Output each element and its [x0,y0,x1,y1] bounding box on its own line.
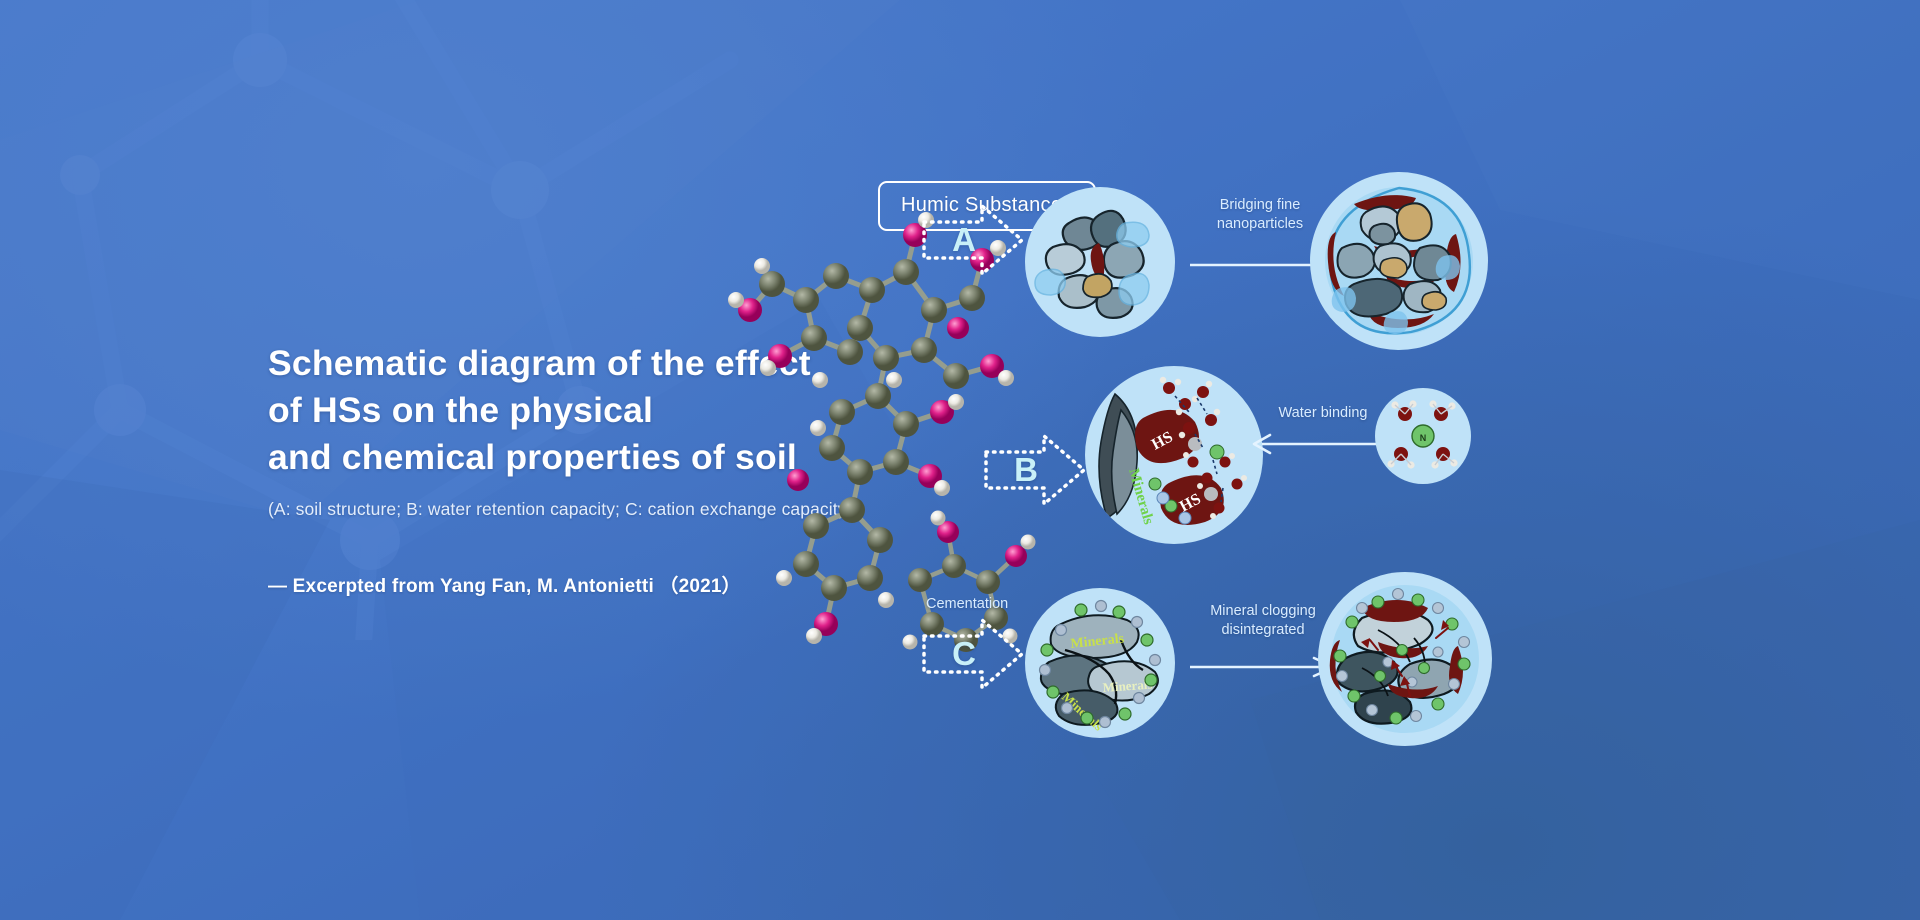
node-cemented-minerals: Minerals Minerals Minerals [1025,588,1175,738]
diagram-area: Humic Substances [840,120,1900,800]
label-cementation: Cementation [926,595,1056,614]
node-disintegrated-minerals [1318,572,1492,746]
node-dispersed-particles [1025,187,1175,337]
pathway-letter-c-glyph: C [918,614,1028,694]
poster-canvas: Schematic diagram of the effect of HSs o… [0,0,1920,920]
pathway-letter-b: B [980,430,1090,510]
arrow-row-b [1252,432,1392,456]
node-hs-mineral-water-complex: Minerals HS HS [1085,366,1263,544]
label-water-binding: Water binding [1248,404,1398,423]
pathway-letter-c: C [918,614,1028,694]
pathway-letter-b-glyph: B [980,430,1090,510]
node-water-cluster: N [1375,388,1471,484]
pathway-letter-a-glyph: A [918,200,1028,280]
pathway-letter-a: A [918,200,1028,280]
node-bridged-aggregate [1310,172,1488,350]
ion-label: N [1420,433,1427,443]
arrow-row-c [1188,655,1338,679]
